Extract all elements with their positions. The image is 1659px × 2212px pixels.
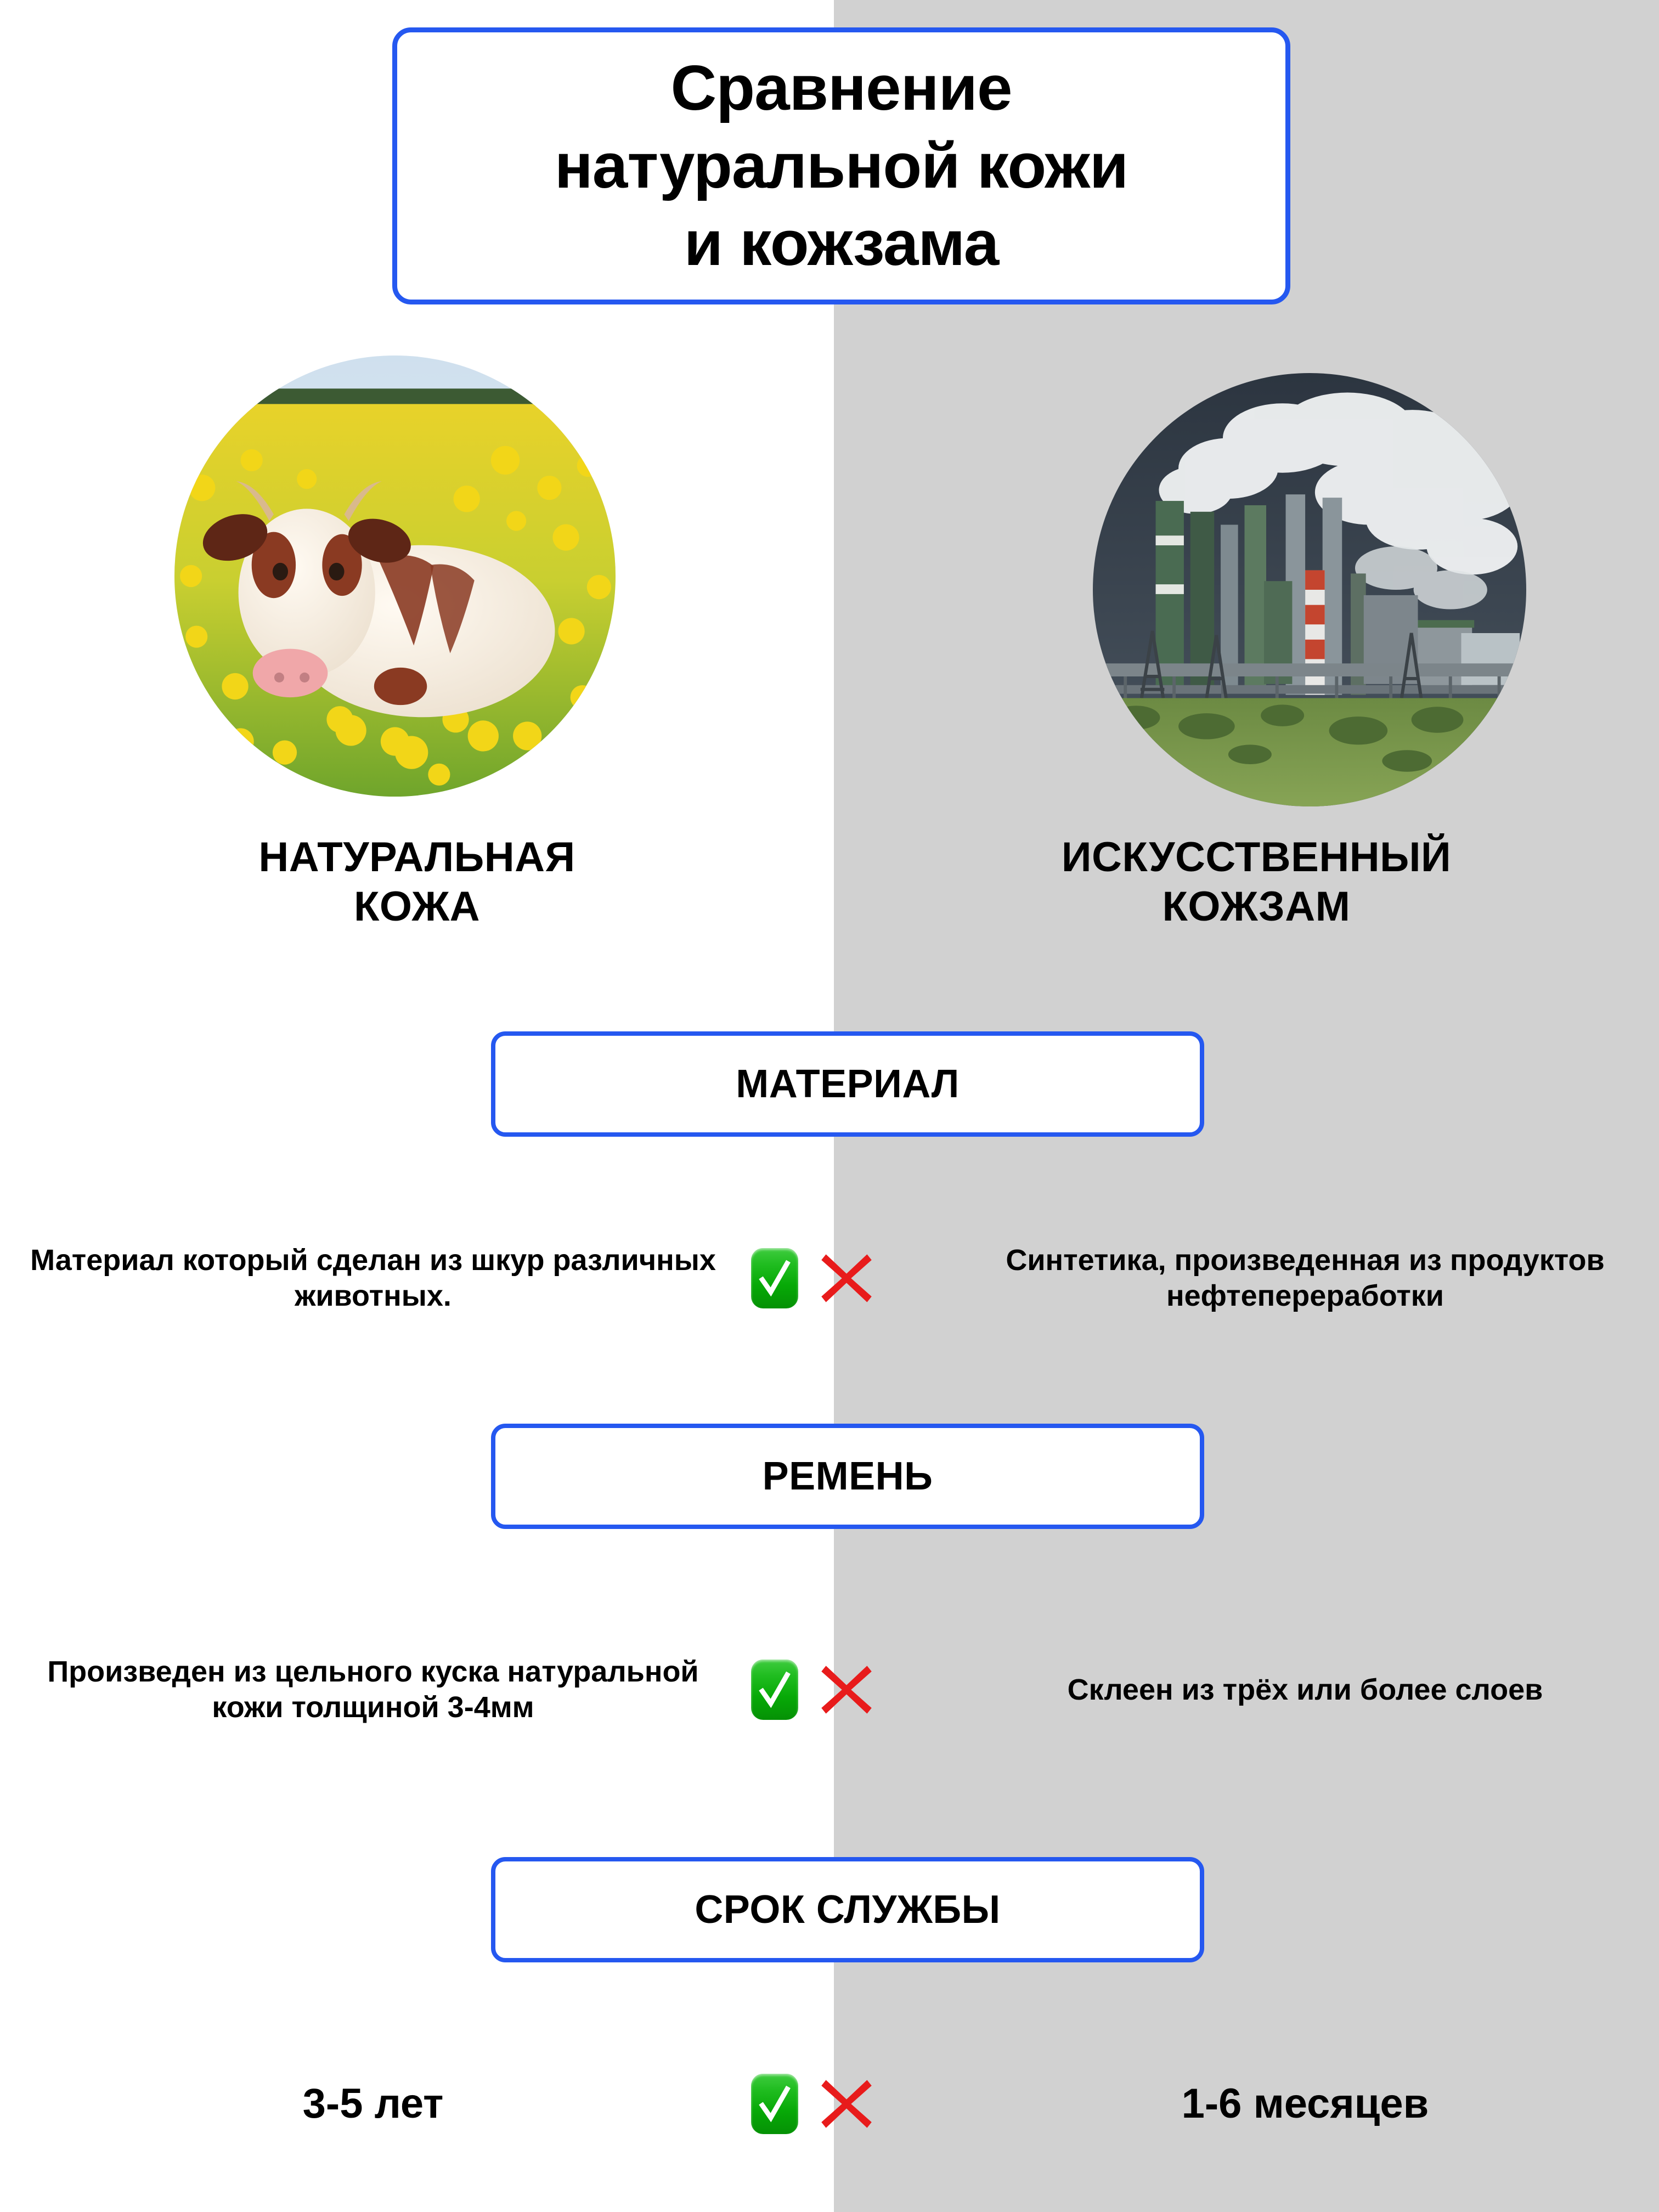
page-title: Сравнение натуральной кожи и кожзама (533, 49, 1150, 283)
comparison-row-material: Материал который сделан из шкур различны… (0, 1201, 1659, 1355)
cow-in-flower-field-photo (174, 356, 616, 797)
title-card: Сравнение натуральной кожи и кожзама (392, 27, 1290, 304)
check-mark-icon (751, 1660, 798, 1720)
left-caption-line-1: НАТУРАЛЬНАЯ (33, 833, 801, 882)
material-marks (727, 1248, 899, 1308)
comparison-row-lifespan: 3-5 лет 1-6 месяцев (0, 2052, 1659, 2156)
section-header-belt: РЕМЕНЬ (491, 1424, 1204, 1529)
section-label-lifespan: СРОК СЛУЖБЫ (695, 1887, 1000, 1932)
check-mark-icon (751, 2074, 798, 2134)
left-column-caption: НАТУРАЛЬНАЯ КОЖА (33, 833, 801, 931)
cross-mark-icon (818, 2075, 875, 2132)
material-right-text: Синтетика, произведенная из продуктов не… (951, 1243, 1659, 1314)
right-column-caption: ИСКУССТВЕННЫЙ КОЖЗАМ (878, 833, 1635, 931)
right-caption-line-1: ИСКУССТВЕННЫЙ (878, 833, 1635, 882)
cross-mark-icon (818, 1250, 875, 1307)
industrial-refinery-smokestacks-photo (1093, 373, 1526, 806)
section-label-material: МАТЕРИАЛ (736, 1062, 960, 1107)
section-header-lifespan: СРОК СЛУЖБЫ (491, 1857, 1204, 1962)
title-line-3: и кожзама (555, 205, 1128, 283)
right-caption-line-2: КОЖЗАМ (878, 882, 1635, 932)
section-label-belt: РЕМЕНЬ (763, 1454, 933, 1499)
belt-right-text: Склеен из трёх или более слоев (951, 1672, 1659, 1708)
belt-marks (727, 1660, 899, 1720)
comparison-row-belt: Произведен из цельного куска натуральной… (0, 1585, 1659, 1794)
title-line-1: Сравнение (555, 49, 1128, 127)
lifespan-marks (727, 2074, 899, 2134)
material-left-text: Материал который сделан из шкур различны… (19, 1243, 727, 1314)
belt-left-text: Произведен из цельного куска натуральной… (19, 1654, 727, 1725)
cross-mark-icon (818, 1661, 875, 1718)
section-header-material: МАТЕРИАЛ (491, 1031, 1204, 1137)
lifespan-right-text: 1-6 месяцев (951, 2079, 1659, 2129)
left-caption-line-2: КОЖА (33, 882, 801, 932)
title-line-2: натуральной кожи (555, 127, 1128, 205)
lifespan-left-text: 3-5 лет (19, 2079, 727, 2129)
infographic-page: Сравнение натуральной кожи и кожзама (0, 0, 1659, 2212)
check-mark-icon (751, 1248, 798, 1308)
